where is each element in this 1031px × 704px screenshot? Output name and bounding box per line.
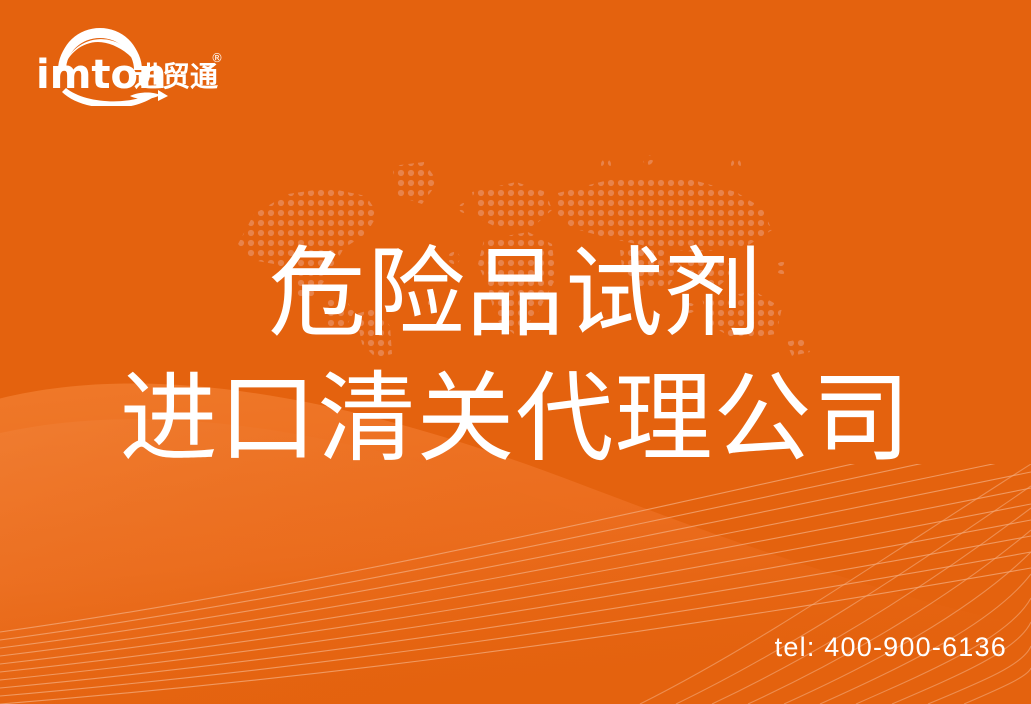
imton-logo[interactable]: imton 进贸通 ®: [34, 26, 249, 106]
line-fan-decoration: [0, 464, 1031, 704]
headline-line-2: 进口清关代理公司: [0, 357, 1031, 482]
promo-banner: imton 进贸通 ® 危险品试剂 进口清关代理公司 tel: 400-900-…: [0, 0, 1031, 704]
headline: 危险品试剂 进口清关代理公司: [0, 232, 1031, 483]
headline-line-1: 危险品试剂: [0, 232, 1031, 357]
logo-chinese-name: 进贸通: [134, 60, 218, 93]
contact-telephone[interactable]: tel: 400-900-6136: [775, 632, 1007, 663]
registered-trademark-icon: ®: [211, 51, 223, 65]
